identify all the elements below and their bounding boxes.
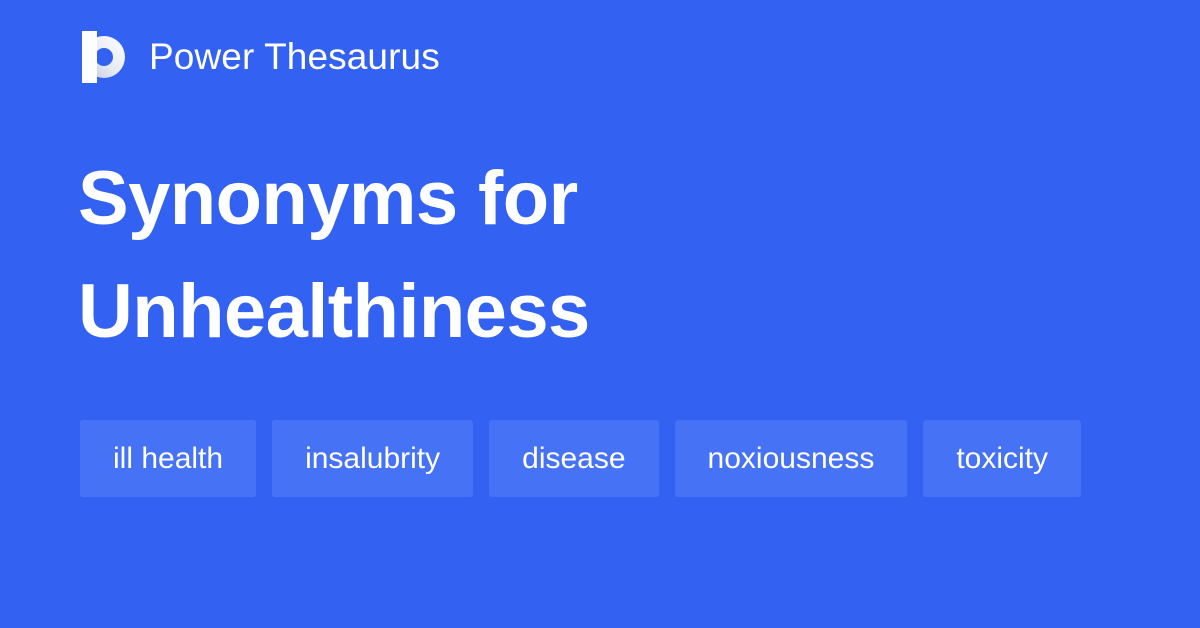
synonym-tag-list: ill health insalubrity disease noxiousne… bbox=[80, 420, 1130, 497]
brand-name: Power Thesaurus bbox=[149, 35, 440, 79]
brand-header[interactable]: Power Thesaurus bbox=[80, 26, 440, 88]
synonym-tag[interactable]: ill health bbox=[80, 420, 256, 497]
synonym-tag[interactable]: disease bbox=[489, 420, 658, 497]
synonym-tag[interactable]: noxiousness bbox=[675, 420, 908, 497]
page-title-line-2: Unhealthiness bbox=[78, 255, 1118, 368]
page-title-line-1: Synonyms for bbox=[78, 142, 1118, 255]
page-title: Synonyms for Unhealthiness bbox=[78, 142, 1118, 368]
synonym-tag[interactable]: insalubrity bbox=[272, 420, 473, 497]
power-thesaurus-b-logo-icon bbox=[80, 31, 130, 83]
social-card: Power Thesaurus Synonyms for Unhealthine… bbox=[0, 0, 1200, 628]
synonym-tag[interactable]: toxicity bbox=[923, 420, 1081, 497]
